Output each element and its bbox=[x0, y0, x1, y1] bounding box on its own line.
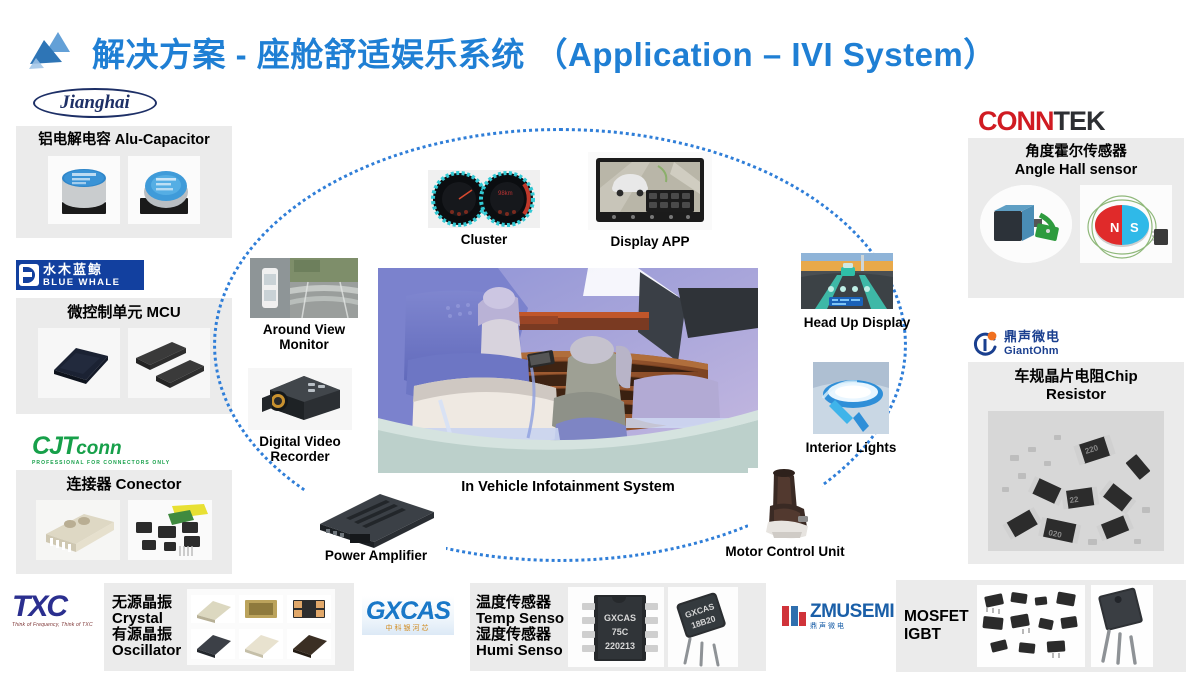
photo-alu-capacitor-1 bbox=[48, 156, 120, 224]
panel-connector: 连接器 Conector bbox=[16, 470, 232, 574]
crystal-line-4: Oscillator bbox=[112, 643, 181, 659]
thumb-interior-lights bbox=[813, 362, 889, 434]
sensor-line-2: Temp Senso bbox=[476, 611, 564, 627]
sensor-line-3: 湿度传感器 bbox=[476, 627, 564, 643]
blue-whale-brand-en: BLUE WHALE bbox=[43, 278, 120, 288]
node-motor-control-unit: Motor Control Unit bbox=[718, 468, 852, 559]
giantohm-brand-cn: 鼎声微电 bbox=[1004, 330, 1060, 343]
photo-chip-resistors: 220 22 020 bbox=[988, 411, 1164, 551]
node-cluster: 98km Cluster bbox=[428, 170, 540, 247]
photo-alu-capacitor-2 bbox=[128, 156, 200, 224]
slide-header: 解决方案 - 座舱舒适娱乐系统 （Application – IVI Syste… bbox=[0, 14, 1200, 70]
node-label-head-up-display: Head Up Display bbox=[793, 315, 921, 330]
thumb-car-interior bbox=[378, 268, 758, 473]
txc-logo-icon: TXC Think of Frequency, Think of TXC bbox=[12, 592, 93, 628]
node-label-cluster: Cluster bbox=[428, 232, 540, 247]
photo-mcu-packages bbox=[128, 328, 210, 398]
svg-text:98km: 98km bbox=[498, 191, 513, 197]
photo-to92-sensor: GXCAS 18B20 bbox=[668, 587, 738, 667]
zmusemi-logo-icon: ZMUSEMI 鼎声微电 bbox=[782, 602, 894, 630]
node-around-view-monitor: Around View Monitor bbox=[250, 258, 358, 352]
svg-text:S: S bbox=[1130, 220, 1139, 235]
crystal-line-3: 有源晶振 bbox=[112, 627, 181, 643]
photo-crystal-grid bbox=[187, 589, 335, 665]
conntek-logo-icon: CONN TEK bbox=[978, 108, 1105, 135]
mosfet-line-2: IGBT bbox=[904, 626, 969, 644]
triangles-logo-icon bbox=[28, 30, 84, 72]
jianghai-logo-icon: Jianghai bbox=[33, 88, 157, 118]
panel-text-crystal: 无源晶振 Crystal 有源晶振 Oscillator bbox=[104, 595, 181, 659]
sensor-line-4: Humi Senso bbox=[476, 643, 564, 659]
node-digital-video-recorder: Digital Video Recorder bbox=[248, 368, 352, 464]
thumb-cluster: 98km bbox=[428, 170, 540, 228]
cjt-brand-suffix: conn bbox=[76, 438, 121, 459]
giantohm-logo-icon: 鼎声微电 GiantOhm bbox=[972, 330, 1060, 357]
gxcas-logo-icon: GXCAS 中科银河芯 bbox=[362, 596, 454, 635]
node-label-power-amplifier: Power Amplifier bbox=[306, 548, 446, 563]
giantohm-mark-icon bbox=[972, 330, 999, 357]
node-label-around-view-monitor: Around View Monitor bbox=[250, 322, 358, 352]
panel-title-alu-capacitor: 铝电解电容 Alu-Capacitor bbox=[16, 126, 232, 149]
panel-title-connector: 连接器 Conector bbox=[16, 470, 232, 493]
panel-title-hall-cn: 角度霍尔传感器 bbox=[968, 138, 1184, 161]
blue-whale-logo-icon: 水木蓝鲸 BLUE WHALE bbox=[16, 260, 144, 290]
panel-temp-humi-sensor: 温度传感器 Temp Senso 湿度传感器 Humi Senso GXCAS bbox=[470, 583, 766, 671]
node-head-up-display: Head Up Display bbox=[793, 253, 921, 330]
photo-mcu-bga bbox=[38, 328, 120, 398]
node-label-ivi-center: In Vehicle Infotainment System bbox=[378, 479, 758, 495]
crystal-line-1: 无源晶振 bbox=[112, 595, 181, 611]
thumb-display-app bbox=[588, 152, 712, 230]
panel-mcu: 微控制单元 MCU bbox=[16, 298, 232, 414]
svg-text:GXCAS: GXCAS bbox=[604, 613, 636, 623]
photo-connector-white bbox=[36, 500, 120, 560]
node-label-digital-video-recorder: Digital Video Recorder bbox=[248, 434, 352, 464]
panel-alu-capacitor: 铝电解电容 Alu-Capacitor bbox=[16, 126, 232, 238]
conntek-brand-part1: CONN bbox=[978, 108, 1054, 135]
txc-brand-tagline: Think of Frequency, Think of TXC bbox=[12, 623, 93, 628]
svg-text:22: 22 bbox=[1069, 495, 1080, 505]
panel-angle-hall-sensor: 角度霍尔传感器 Angle Hall sensor bbox=[968, 138, 1184, 298]
thumb-head-up-display bbox=[801, 253, 893, 309]
panel-mosfet-igbt: MOSFET IGBT bbox=[896, 580, 1186, 672]
thumb-digital-video-recorder bbox=[248, 368, 352, 430]
panel-crystal-oscillator: 无源晶振 Crystal 有源晶振 Oscillator bbox=[104, 583, 354, 671]
cjt-conn-logo-icon: CJTconn PROFESSIONAL FOR CONNECTORS ONLY bbox=[32, 434, 170, 466]
photo-smd-mosfets bbox=[977, 585, 1085, 667]
cjt-brand-main: CJTconn bbox=[32, 434, 170, 459]
slide-root: 解决方案 - 座舱舒适娱乐系统 （Application – IVI Syste… bbox=[0, 0, 1200, 674]
mosfet-line-1: MOSFET bbox=[904, 608, 969, 626]
zmusemi-brand-main: ZMUSEMI bbox=[810, 602, 894, 621]
photo-connector-black bbox=[128, 500, 212, 560]
zmusemi-brand-cn: 鼎声微电 bbox=[810, 623, 894, 630]
txc-brand-main: TXC bbox=[12, 592, 93, 622]
cjt-brand-tagline: PROFESSIONAL FOR CONNECTORS ONLY bbox=[32, 461, 170, 466]
thumb-motor-control-unit bbox=[748, 468, 822, 542]
node-label-interior-lights: Interior Lights bbox=[795, 440, 907, 455]
svg-text:N: N bbox=[1110, 220, 1119, 235]
node-label-display-app: Display APP bbox=[588, 234, 712, 249]
zmusemi-mark-icon bbox=[782, 606, 806, 626]
panel-text-mosfet: MOSFET IGBT bbox=[896, 608, 969, 645]
node-ivi-center: In Vehicle Infotainment System bbox=[378, 268, 758, 495]
node-display-app: Display APP bbox=[588, 152, 712, 249]
node-interior-lights: Interior Lights bbox=[795, 362, 907, 455]
crystal-line-2: Crystal bbox=[112, 611, 181, 627]
gxcas-brand-cn: 中科银河芯 bbox=[385, 625, 430, 632]
panel-title-resistor-cn: 车规晶片电阻Chip bbox=[968, 362, 1184, 385]
page-title: 解决方案 - 座舱舒适娱乐系统 （Application – IVI Syste… bbox=[92, 28, 997, 76]
photo-hall-sensor-module bbox=[980, 185, 1072, 263]
photo-to247-igbt bbox=[1091, 585, 1153, 667]
blue-whale-brand-cn: 水木蓝鲸 bbox=[43, 263, 120, 276]
node-label-motor-control-unit: Motor Control Unit bbox=[718, 544, 852, 559]
thumb-around-view-monitor bbox=[250, 258, 358, 318]
panel-title-mcu: 微控制单元 MCU bbox=[16, 298, 232, 321]
panel-title-hall-en: Angle Hall sensor bbox=[968, 161, 1184, 179]
blue-whale-mark-icon bbox=[19, 264, 39, 286]
panel-text-sensor: 温度传感器 Temp Senso 湿度传感器 Humi Senso bbox=[470, 595, 564, 659]
photo-soic-sensor-chip: GXCAS 75C 220213 bbox=[568, 587, 664, 667]
gxcas-brand-main: GXCAS bbox=[366, 599, 450, 624]
giantohm-brand-en: GiantOhm bbox=[1004, 346, 1060, 357]
panel-chip-resistor: 车规晶片电阻Chip Resistor bbox=[968, 362, 1184, 564]
panel-title-resistor-en: Resistor bbox=[968, 385, 1184, 403]
conntek-brand-part2: TEK bbox=[1054, 108, 1105, 135]
sensor-line-1: 温度传感器 bbox=[476, 595, 564, 611]
svg-text:220213: 220213 bbox=[605, 641, 635, 651]
photo-magnet-poles: N S bbox=[1080, 185, 1172, 263]
svg-text:75C: 75C bbox=[612, 627, 629, 637]
